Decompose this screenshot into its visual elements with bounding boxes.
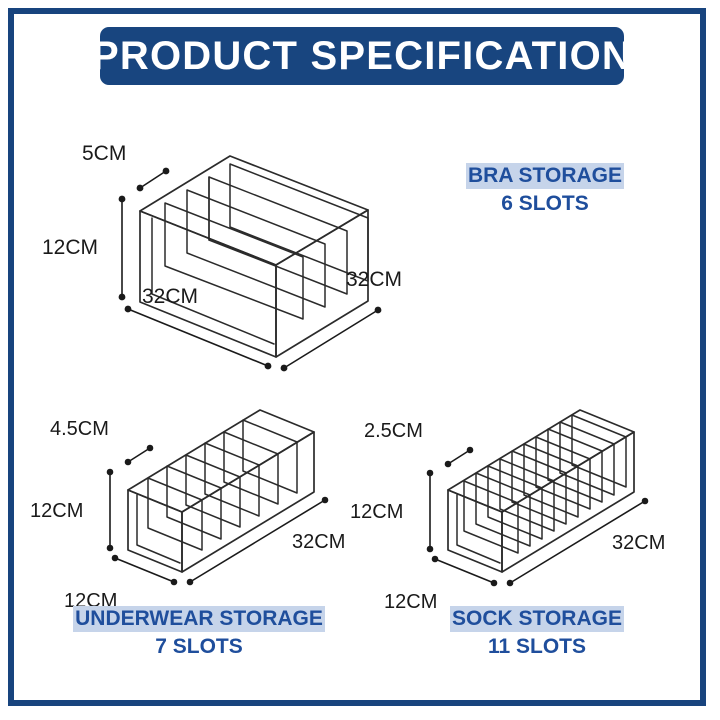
dimension-label-depth: 32CM <box>346 268 402 291</box>
dimension-label-divider-height: 4.5CM <box>50 418 109 440</box>
product-illustration-bra-storage: 5CM 12CM 32CM 32CM <box>78 106 438 336</box>
dimension-label-height: 12CM <box>30 500 83 522</box>
box-dividers <box>152 164 368 344</box>
dimension-label-height: 12CM <box>350 501 403 523</box>
caption-underwear-name: UNDERWEAR STORAGE <box>73 606 325 632</box>
dimension-label-width: 32CM <box>142 285 198 308</box>
dimension-label-height: 12CM <box>42 236 98 259</box>
dimension-width: 12CM <box>384 556 497 613</box>
caption-bra-name: BRA STORAGE <box>466 163 624 189</box>
caption-underwear-storage: UNDERWEAR STORAGE 7 SLOTS <box>24 606 374 659</box>
caption-sock-slots: 11 SLOTS <box>382 634 692 660</box>
dimension-height: 12CM <box>30 469 113 552</box>
dimension-depth: 32CM <box>187 497 346 586</box>
box-dividers <box>457 415 626 563</box>
dimension-height: 12CM <box>42 196 125 301</box>
box-outline <box>140 156 368 357</box>
product-specification-infographic: PRODUCT SPECIFICATION <box>0 0 720 720</box>
caption-sock-name: SOCK STORAGE <box>450 606 624 632</box>
dimension-label-divider-height: 2.5CM <box>364 420 423 442</box>
bra-storage-drawing: 5CM 12CM 32CM 32CM <box>78 106 438 336</box>
underwear-storage-drawing: 4.5CM 12CM 12CM 32CM <box>52 400 382 610</box>
caption-bra-slots: 6 SLOTS <box>430 191 660 217</box>
dimension-divider-height: 5CM <box>82 142 169 191</box>
title-banner: PRODUCT SPECIFICATION <box>100 27 624 85</box>
dimension-label-depth: 32CM <box>612 532 665 554</box>
caption-sock-storage: SOCK STORAGE 11 SLOTS <box>382 606 692 659</box>
dimension-divider-height: 2.5CM <box>364 420 473 467</box>
caption-underwear-slots: 7 SLOTS <box>24 634 374 660</box>
caption-bra-storage: BRA STORAGE 6 SLOTS <box>430 163 660 216</box>
dimension-label-divider-height: 5CM <box>82 142 126 165</box>
dimension-divider-height: 4.5CM <box>50 418 153 465</box>
product-illustration-sock-storage: 2.5CM 12CM 12CM 32CM <box>372 400 702 610</box>
product-illustration-underwear-storage: 4.5CM 12CM 12CM 32CM <box>52 400 382 610</box>
dimension-depth: 32CM <box>281 268 402 371</box>
sock-storage-drawing: 2.5CM 12CM 12CM 32CM <box>372 400 702 610</box>
page-title: PRODUCT SPECIFICATION <box>92 36 632 76</box>
dimension-label-depth: 32CM <box>292 531 345 553</box>
